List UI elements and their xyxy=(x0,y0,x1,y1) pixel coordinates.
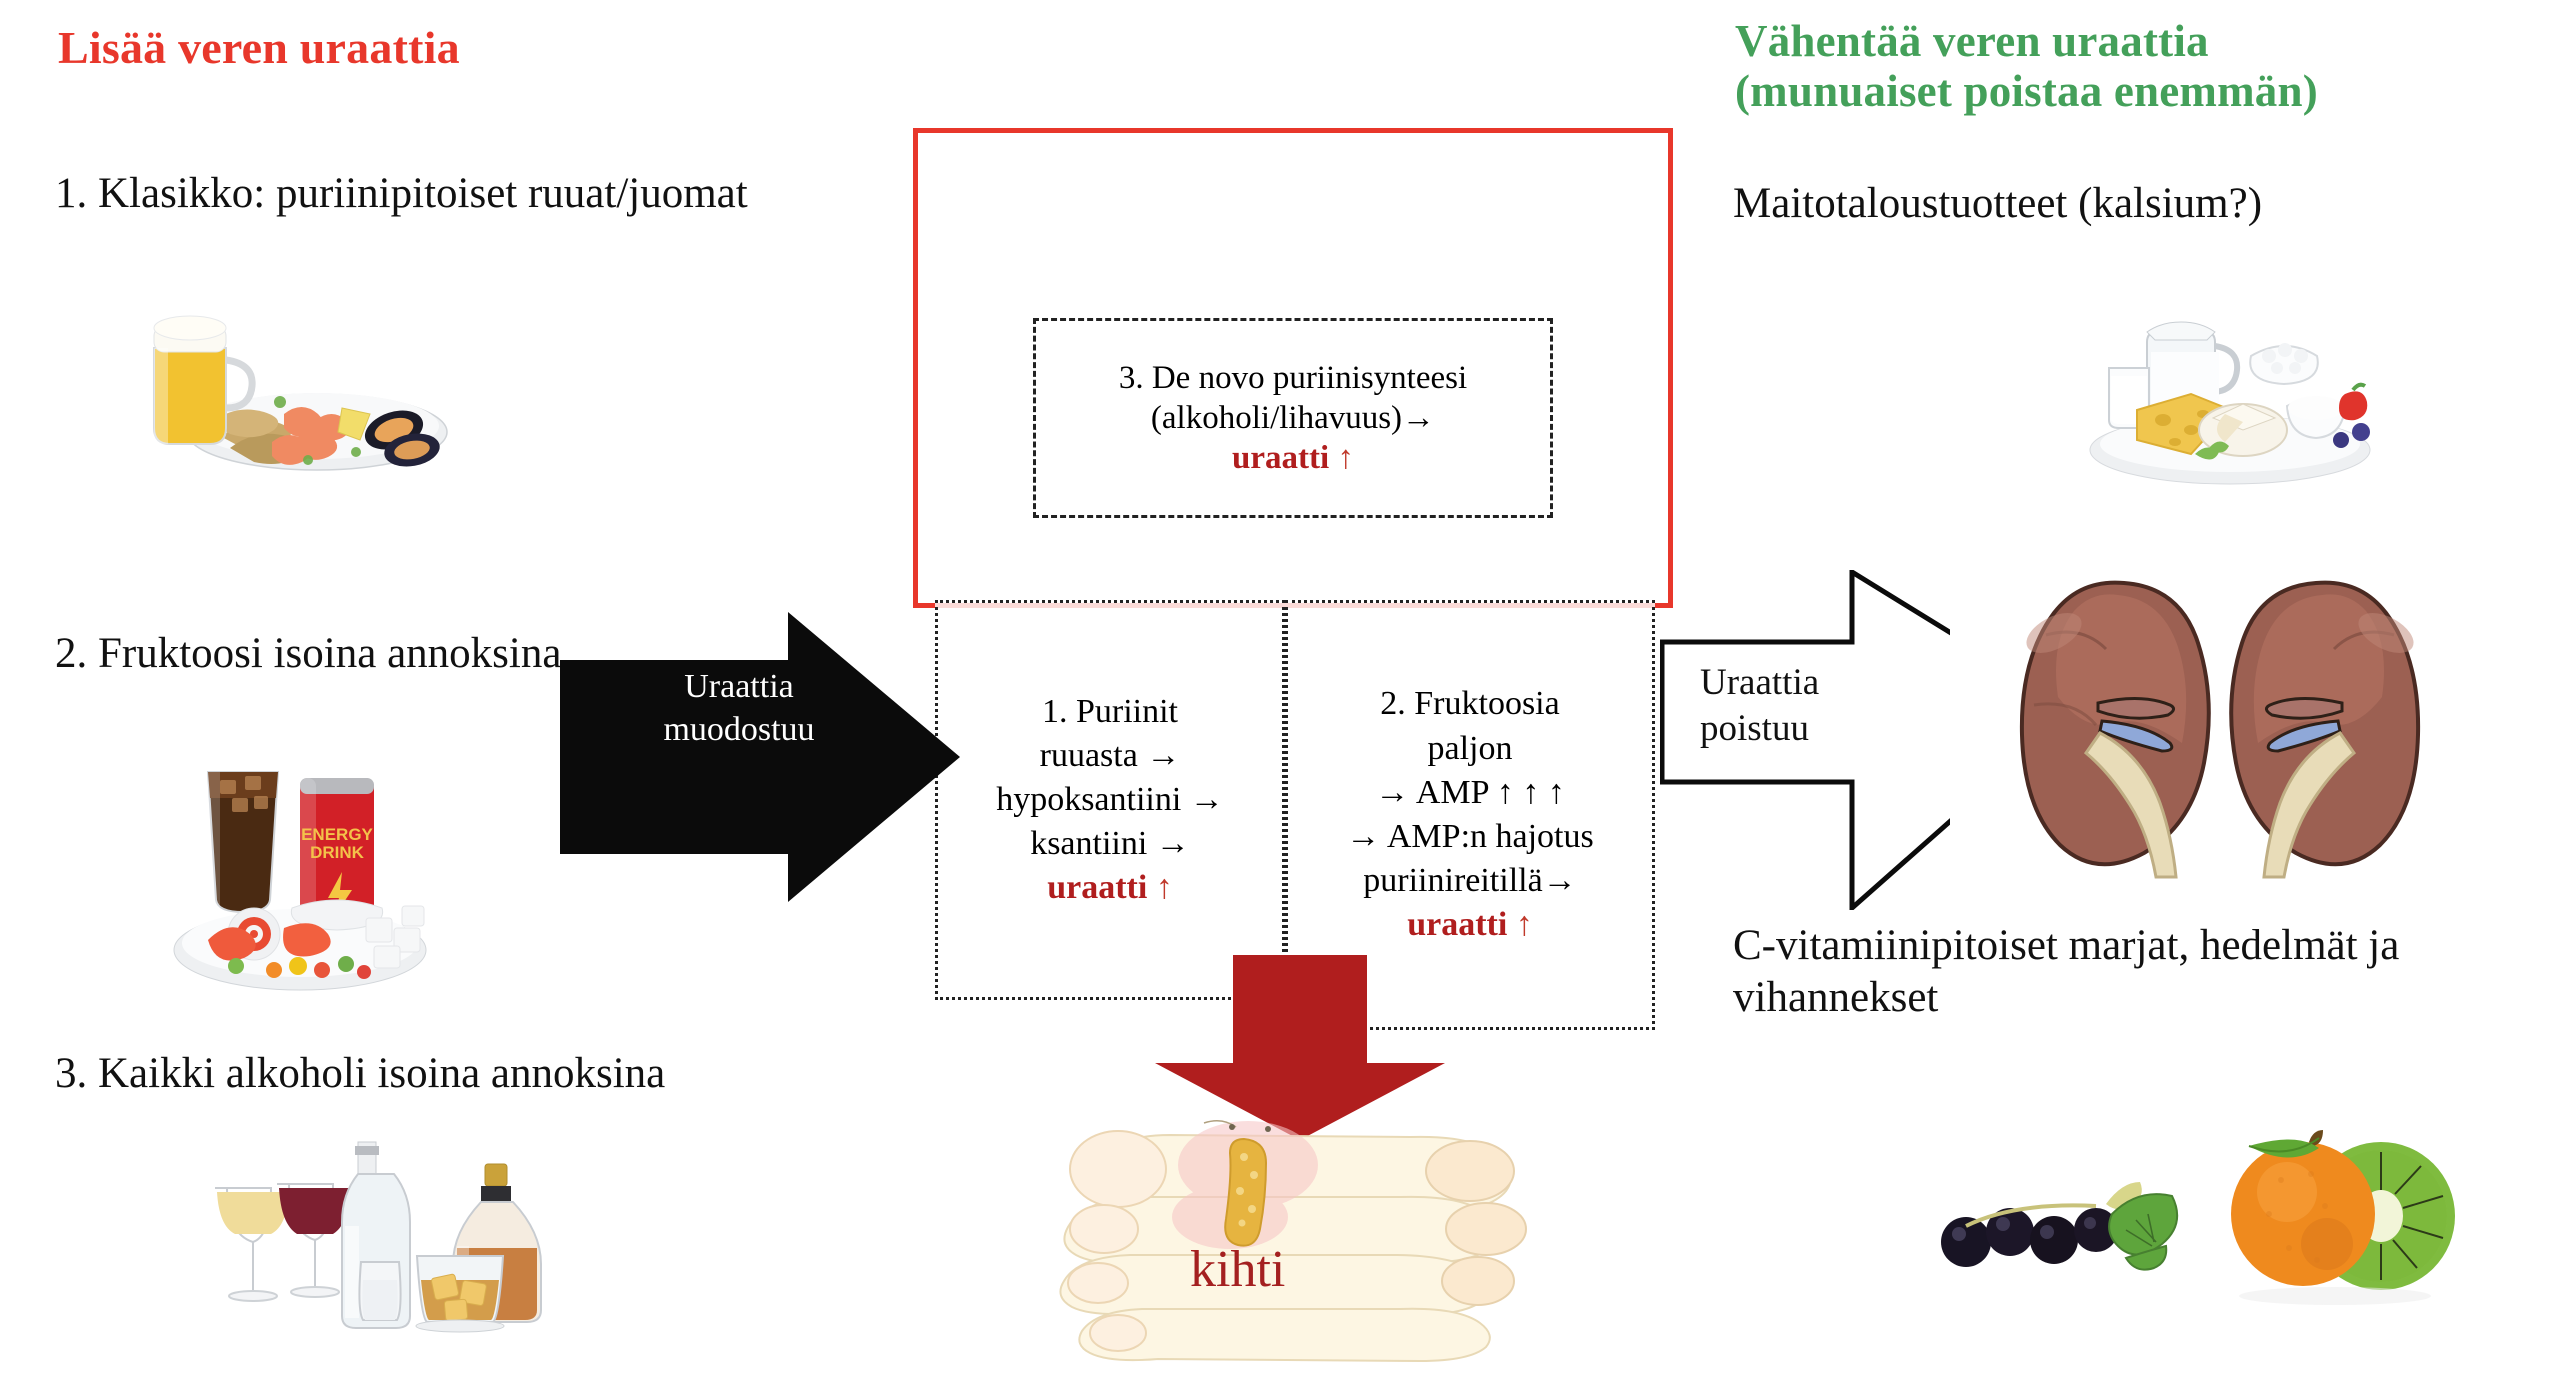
purine-line-3: hypoksantiini → xyxy=(996,778,1224,822)
alcoholic-drinks-illustration xyxy=(185,1130,605,1365)
purine-pathway-text: 1. Puriinit ruuasta → hypoksantiini → ks… xyxy=(986,690,1234,911)
dairy-products-label: Maitotaloustuotteet (kalsium?) xyxy=(1733,178,2262,230)
up-arrow-icon: ↑ xyxy=(1337,440,1354,476)
uric-acid-excretion-label: Uraattia poistuu xyxy=(1700,660,1930,753)
left-item-3-label: 3. Kaikki alkoholi isoina annoksina xyxy=(55,1048,665,1100)
up-arrow-icon: ↑ xyxy=(1156,869,1173,906)
black-right-arrow-icon xyxy=(560,612,960,902)
dairy-products-photo xyxy=(2075,298,2385,488)
de-novo-synthesis-text: 3. De novo puriinisynteesi (alkoholi/lih… xyxy=(1119,358,1467,479)
uric-acid-formation-arrow xyxy=(560,612,960,902)
uraatti-label: uraatti xyxy=(1407,906,1507,943)
right-column-heading: Vähentää veren uraattia (munuaiset poist… xyxy=(1735,16,2318,117)
left-item-1-label: 1. Klasikko: puriinipitoiset ruuat/juoma… xyxy=(55,168,748,220)
formation-line-2: muodostuu xyxy=(624,709,854,752)
uraatti-label: uraatti xyxy=(1232,440,1329,476)
alcohol-photo xyxy=(185,1130,605,1365)
purine-foods-photo xyxy=(112,292,462,472)
fructose-line-1: 2. Fruktoosia xyxy=(1346,682,1593,726)
purine-line-2: ruuasta → xyxy=(996,734,1224,778)
right-heading-line-2: (munuaiset poistaa enemmän) xyxy=(1735,66,2318,116)
uraatti-label: uraatti xyxy=(1047,869,1147,906)
fructose-line-2: paljon xyxy=(1346,727,1593,771)
purine-line-5: uraatti ↑ xyxy=(996,866,1224,910)
up-arrow-icon: ↑ xyxy=(1516,906,1533,943)
beer-and-seafood-illustration xyxy=(112,292,462,472)
fructose-line-4: → AMP:n hajotus xyxy=(1346,815,1593,859)
kidneys-illustration xyxy=(1950,565,2490,895)
de-novo-line-3: uraatti ↑ xyxy=(1119,438,1467,478)
dairy-plate-illustration xyxy=(2075,298,2385,488)
kidneys-photo xyxy=(1950,565,2490,895)
excretion-line-2: poistuu xyxy=(1700,706,1930,752)
gout-outcome-label: kihti xyxy=(1190,1240,1285,1299)
de-novo-synthesis-box: 3. De novo puriinisynteesi (alkoholi/lih… xyxy=(1033,318,1553,518)
fructose-line-5: puriinireitillä→ xyxy=(1346,859,1593,903)
fructose-foods-photo: ENERGY DRINK xyxy=(150,722,450,1002)
formation-line-1: Uraattia xyxy=(624,666,854,709)
soda-candy-illustration: ENERGY DRINK xyxy=(150,722,450,1002)
left-column-heading: Lisää veren uraattia xyxy=(58,22,460,74)
right-heading-line-1: Vähentää veren uraattia xyxy=(1735,16,2318,66)
gout-foot-illustration xyxy=(1000,1105,1560,1371)
fructose-pathway-text: 2. Fruktoosia paljon → AMP ↑ ↑ ↑ → AMP:n… xyxy=(1336,682,1603,947)
excretion-line-1: Uraattia xyxy=(1700,660,1930,706)
purine-line-4: ksantiini → xyxy=(996,822,1224,866)
de-novo-line-1: 3. De novo puriinisynteesi xyxy=(1119,358,1467,398)
vitamin-c-foods-label: C-vitamiinipitoiset marjat, hedelmät ja … xyxy=(1733,920,2523,1025)
purine-line-1: 1. Puriinit xyxy=(996,690,1224,734)
berries-photo xyxy=(1930,1130,2180,1290)
fructose-line-3: → AMP ↑ ↑ ↑ xyxy=(1346,771,1593,815)
svg-text:ENERGY: ENERGY xyxy=(301,825,373,844)
citrus-photo xyxy=(2185,1110,2475,1310)
orange-and-kiwi-illustration xyxy=(2185,1110,2475,1310)
uric-acid-formation-label: Uraattia muodostuu xyxy=(624,666,854,751)
vitamin-c-line-1: C-vitamiinipitoiset marjat, hedelmät ja xyxy=(1733,920,2523,972)
fructose-line-6: uraatti ↑ xyxy=(1346,903,1593,947)
blackcurrant-illustration xyxy=(1930,1130,2180,1290)
left-item-2-label: 2. Fruktoosi isoina annoksina xyxy=(55,628,561,680)
svg-text:DRINK: DRINK xyxy=(310,843,365,862)
de-novo-line-2: (alkoholi/lihavuus)→ xyxy=(1119,398,1467,438)
vitamin-c-line-2: vihannekset xyxy=(1733,972,2523,1024)
purine-pathway-box: 1. Puriinit ruuasta → hypoksantiini → ks… xyxy=(935,600,1285,1000)
